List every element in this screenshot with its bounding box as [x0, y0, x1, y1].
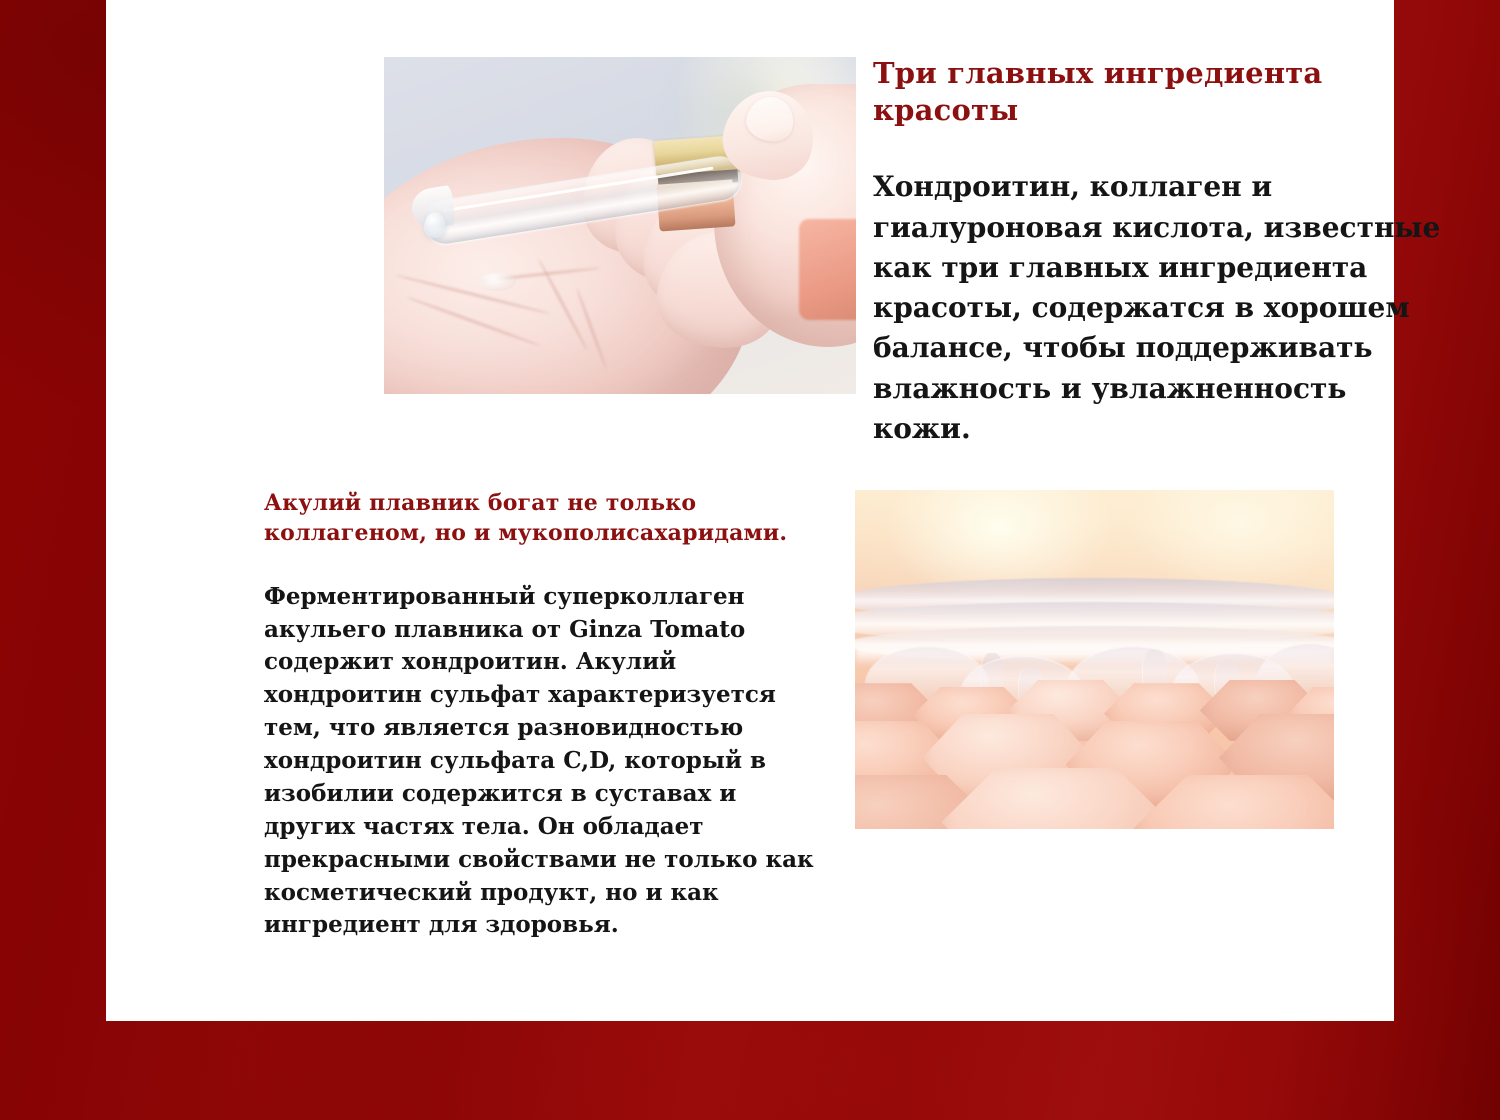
cells-light-glow-right — [1133, 490, 1334, 592]
serum-pool-on-palm — [478, 273, 516, 291]
left-text-column: Акулий плавник богат не только коллагено… — [264, 488, 834, 942]
slide-page: Три главных ингредиента красоты Хондроит… — [106, 0, 1394, 1021]
skin-cells-3d-illustration — [855, 490, 1334, 829]
serum-droplet — [424, 212, 446, 238]
right-column-body: Хондроитин, коллаген и гиалуроновая кисл… — [873, 129, 1453, 449]
serum-bottle-body — [799, 219, 856, 320]
left-column-heading: Акулий плавник богат не только коллагено… — [264, 488, 834, 549]
hand-with-serum-dropper-photo — [384, 57, 856, 394]
left-column-body: Ферментированный суперколлаген акульего … — [264, 549, 834, 943]
right-text-column: Три главных ингредиента красоты Хондроит… — [873, 55, 1453, 449]
right-column-heading: Три главных ингредиента красоты — [873, 55, 1453, 129]
